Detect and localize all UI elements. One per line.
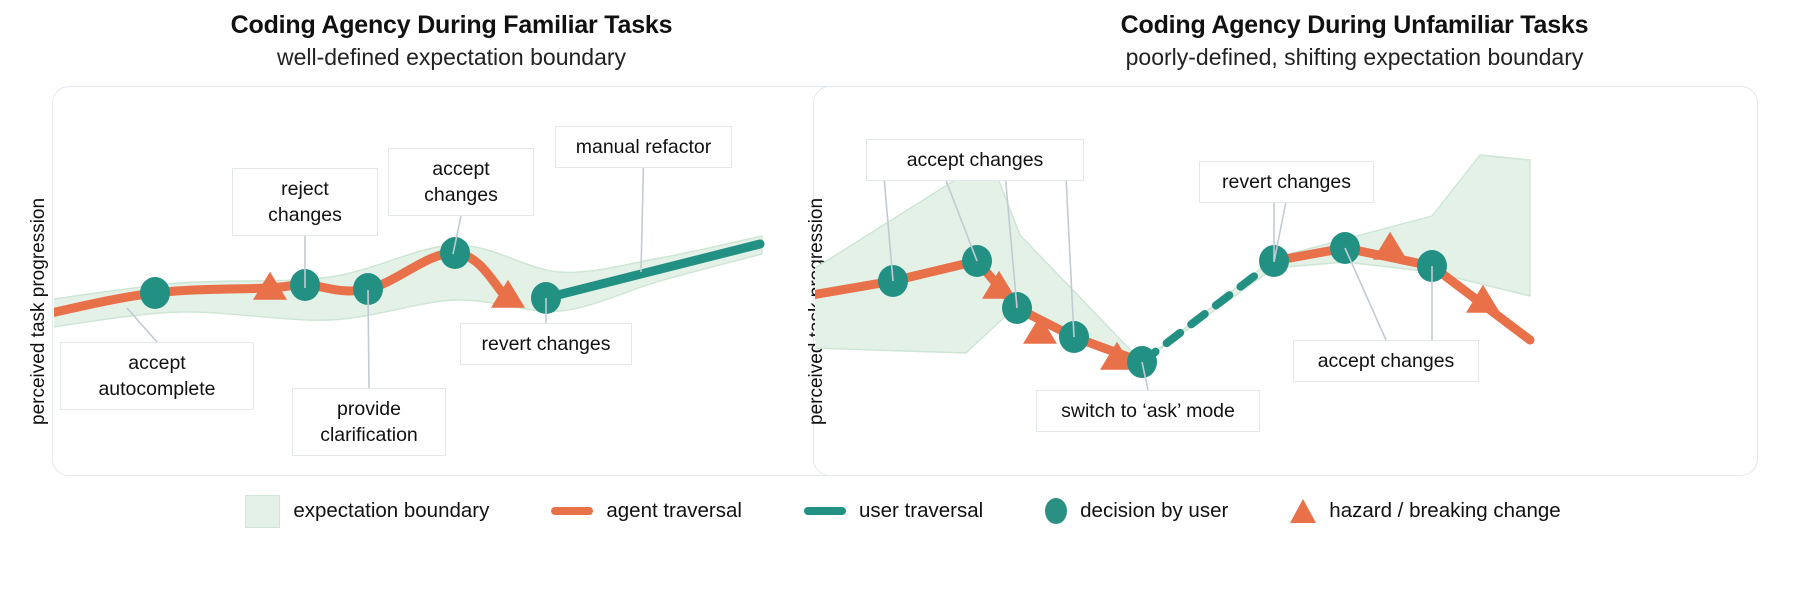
orange-line-icon [551, 507, 593, 515]
chart-legend: expectation boundary agent traversal use… [0, 483, 1806, 539]
legend-label: agent traversal [606, 499, 742, 523]
annotation-label: accept changes [388, 148, 534, 216]
annotation-label: provide clarification [292, 388, 446, 456]
annotation-label: accept autocomplete [60, 342, 254, 410]
annotation-label: revert changes [1199, 161, 1374, 203]
legend-label: expectation boundary [293, 499, 489, 523]
annotation-label: switch to ‘ask’ mode [1036, 390, 1260, 432]
area-swatch-icon [245, 495, 280, 528]
legend-item-agent-traversal[interactable]: agent traversal [551, 499, 742, 523]
legend-item-expectation-boundary[interactable]: expectation boundary [245, 495, 489, 528]
annotation-label: accept changes [1293, 340, 1479, 382]
legend-label: user traversal [859, 499, 983, 523]
chart-left-graphics [46, 236, 762, 328]
legend-item-decision-by-user[interactable]: decision by user [1045, 498, 1228, 524]
annotation-label: reject changes [232, 168, 378, 236]
annotation-label: accept changes [866, 139, 1084, 181]
teal-circle-icon [1045, 498, 1067, 524]
legend-item-user-traversal[interactable]: user traversal [804, 499, 983, 523]
orange-triangle-icon [1290, 499, 1316, 523]
figure-root: Coding Agency During Familiar Tasks well… [0, 0, 1806, 616]
legend-item-hazard[interactable]: hazard / breaking change [1290, 499, 1560, 523]
annotation-label: revert changes [460, 323, 632, 365]
teal-line-icon [804, 507, 846, 515]
annotation-label: manual refactor [555, 126, 732, 168]
legend-label: decision by user [1080, 499, 1228, 523]
legend-label: hazard / breaking change [1329, 499, 1560, 523]
